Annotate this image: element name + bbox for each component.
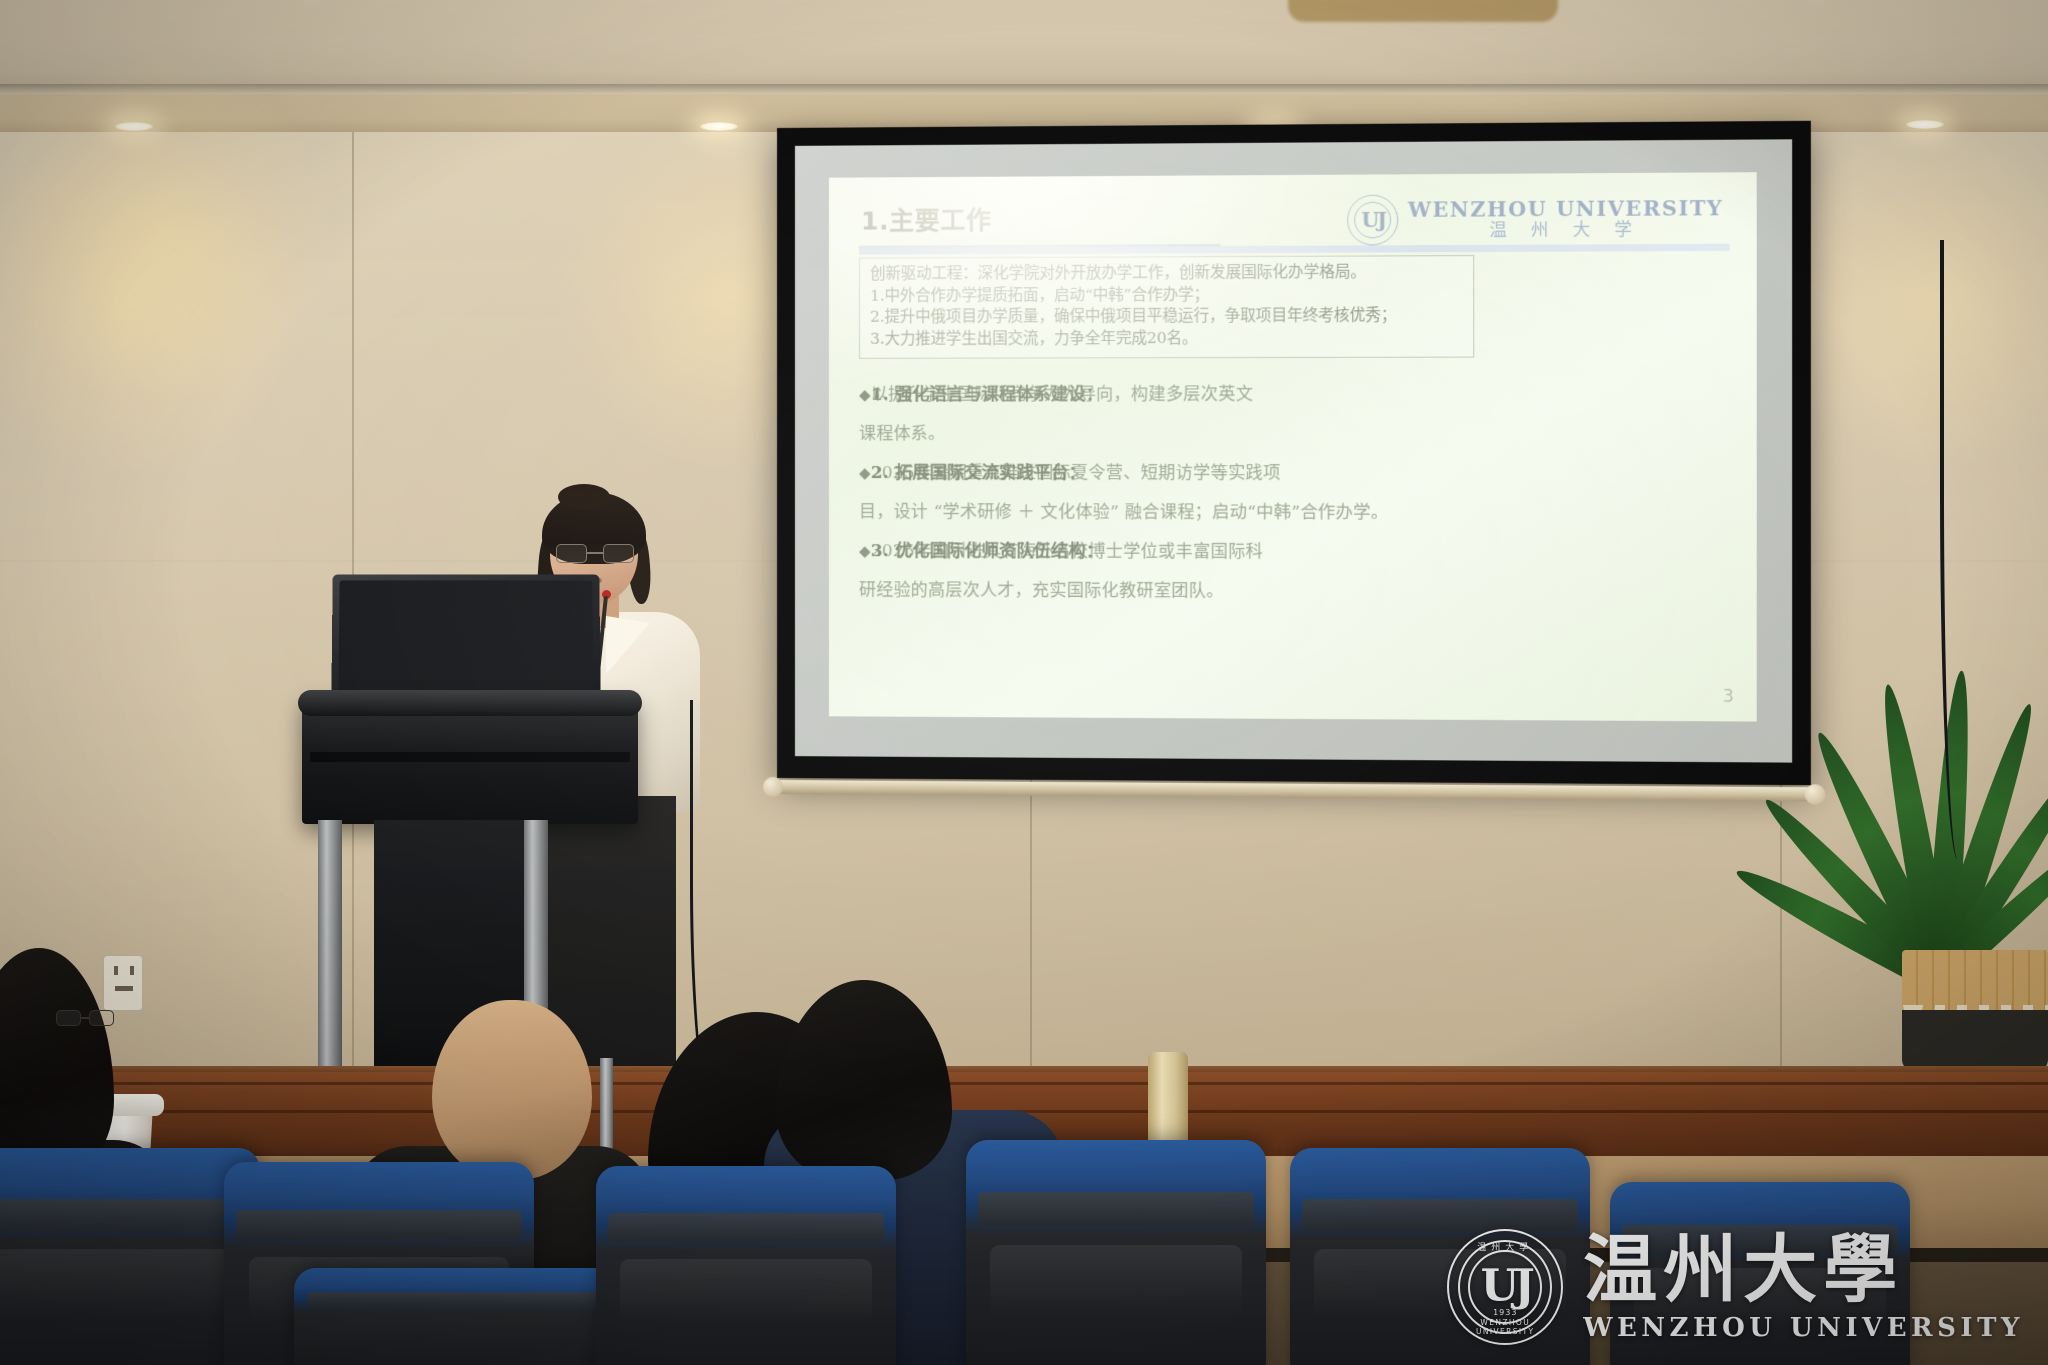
slide-bullet-continuation: 目，设计 “学术研修 ＋ 文化体验” 融合课程；启动“中韩”合作办学。 xyxy=(859,493,1730,534)
ceiling xyxy=(0,0,2048,96)
university-seal-watermark-icon: 温州大學 UJ 1933 WENZHOU UNIVERSITY xyxy=(1447,1229,1563,1345)
conference-room-photo: 1.主要工作 UJ WENZHOU UNIVERSITY 温 州 大 学 xyxy=(0,0,2048,1365)
ceiling-downlight xyxy=(700,122,738,131)
bullet-body: 目，设计 “学术研修 ＋ 文化体验” 融合课程；启动“中韩”合作办学。 xyxy=(859,502,1388,523)
bullet-heading: 2. 拓展国际交流实践平台： xyxy=(871,454,1086,493)
wall-seam xyxy=(1030,760,1032,1070)
audience-head-bald xyxy=(432,1000,592,1180)
boxed-note-line: 1.中外合作办学提质拓面，启动“中韩”合作办学； xyxy=(870,283,1462,307)
bullet-body: 研经验的高层次人才，充实国际化教研室团队。 xyxy=(859,580,1224,601)
audience-chair[interactable] xyxy=(966,1140,1266,1365)
screen-bar-end-knob xyxy=(763,777,783,797)
audience-chair[interactable] xyxy=(294,1268,624,1365)
slide-bullet-item: ◆2. 拓展国际交流实践平台：2025年暑期重点推进国际夏令营、短期访学等实践项 xyxy=(859,454,1730,494)
lectern-shelf xyxy=(310,752,630,762)
screen-surface: 1.主要工作 UJ WENZHOU UNIVERSITY 温 州 大 学 xyxy=(795,139,1792,762)
bullet-body: 课程体系。 xyxy=(859,424,945,444)
seal-arc-bottom-text: WENZHOU UNIVERSITY xyxy=(1449,1318,1561,1336)
slide-bullet-continuation: 课程体系。 xyxy=(859,414,1730,454)
plant-pot-right xyxy=(1902,950,2048,1070)
diamond-bullet-icon: ◆ xyxy=(859,386,871,404)
slide-title: 1.主要工作 xyxy=(861,201,992,238)
bullet-heading: 3. 优化国际化师资队伍结构： xyxy=(871,532,1103,572)
bullet-heading: 1. 强化语言与课程体系建设： xyxy=(871,375,1103,415)
power-outlet[interactable] xyxy=(103,955,143,1011)
university-seal-icon: UJ xyxy=(1348,195,1399,246)
seal-monogram: UJ xyxy=(1361,208,1384,232)
logo-english-name: WENZHOU UNIVERSITY xyxy=(1408,197,1723,220)
laptop[interactable] xyxy=(331,574,600,706)
audience-eyeglasses-icon xyxy=(56,1010,114,1026)
audience-chair[interactable] xyxy=(596,1166,896,1365)
presentation-slide: 1.主要工作 UJ WENZHOU UNIVERSITY 温 州 大 学 xyxy=(829,172,1757,721)
boxed-note-line: 3.大力推进学生出国交流，力争全年完成20名。 xyxy=(870,327,1462,350)
boxed-note-line: 2.提升中俄项目办学质量，确保中俄项目平稳运行，争取项目年终考核优秀； xyxy=(870,305,1462,329)
watermark-chinese-name: 温州大學 xyxy=(1583,1233,2024,1307)
presenter-hair-bun xyxy=(558,484,610,510)
laptop-screen xyxy=(338,580,593,699)
slide-bullet-continuation: 研经验的高层次人才，充实国际化教研室团队。 xyxy=(859,571,1730,613)
chair-rail-groove xyxy=(0,1082,2048,1085)
audience-chair[interactable] xyxy=(0,1148,260,1365)
eyeglasses-icon xyxy=(556,544,634,563)
slide-page-number: 3 xyxy=(1723,687,1734,707)
slide-header: 1.主要工作 UJ WENZHOU UNIVERSITY 温 州 大 学 xyxy=(859,191,1730,254)
laptop-lid xyxy=(331,574,600,706)
logo-chinese-name: 温 州 大 学 xyxy=(1408,221,1723,241)
diamond-bullet-icon: ◆ xyxy=(859,542,871,560)
slide-boxed-note: 创新驱动工程：深化学院对外开放办学工作，创新发展国际化办学格局。 1.中外合作办… xyxy=(859,255,1474,359)
projection-screen: 1.主要工作 UJ WENZHOU UNIVERSITY 温 州 大 学 xyxy=(777,121,1811,785)
slide-bullet-item: ◆3. 优化国际化师资队伍结构：2025年内引进具有海外名校博士学位或丰富国际科 xyxy=(859,532,1730,573)
lectern-top-lip xyxy=(298,690,642,716)
ceiling-edge-trim xyxy=(0,84,2048,94)
ceiling-downlight xyxy=(1906,120,1944,129)
seal-arc-top-text: 温州大學 xyxy=(1449,1240,1561,1253)
wenzhou-university-watermark: 温州大學 UJ 1933 WENZHOU UNIVERSITY 温州大學 WEN… xyxy=(1447,1229,2024,1345)
wenzhou-university-logo: UJ WENZHOU UNIVERSITY 温 州 大 学 xyxy=(1348,193,1724,246)
diamond-bullet-icon: ◆ xyxy=(859,464,871,482)
slide-bullet-list: ◆1. 强化语言与课程体系建设：以提升学生国际化竞争力为导向，构建多层次英文 课… xyxy=(859,374,1730,613)
ceiling-recess-panel xyxy=(1288,0,1558,22)
snake-plant-right xyxy=(1820,600,2048,980)
ceiling-downlight xyxy=(115,122,153,131)
slide-bullet-item: ◆1. 强化语言与课程体系建设：以提升学生国际化竞争力为导向，构建多层次英文 xyxy=(859,374,1730,415)
seal-monogram: UJ xyxy=(1481,1260,1530,1311)
boxed-note-line: 创新驱动工程：深化学院对外开放办学工作，创新发展国际化办学格局。 xyxy=(870,261,1462,285)
watermark-english-name: WENZHOU UNIVERSITY xyxy=(1583,1315,2024,1341)
